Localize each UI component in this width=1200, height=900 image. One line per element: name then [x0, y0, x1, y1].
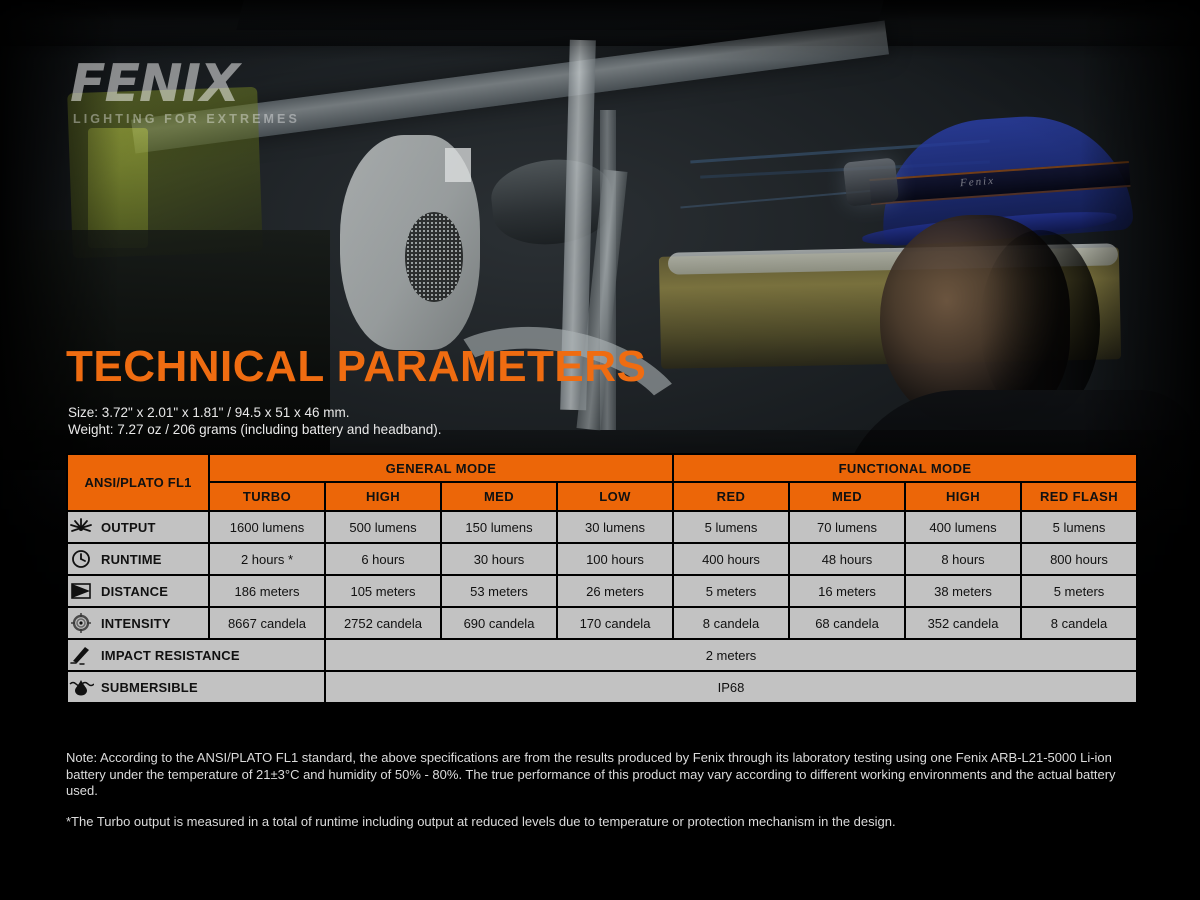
cell-intensity-red: 8 candela: [674, 608, 788, 638]
cell-runtime-fn-med: 48 hours: [790, 544, 904, 574]
cell-distance-fn-med: 16 meters: [790, 576, 904, 606]
cell-runtime-high: 6 hours: [326, 544, 440, 574]
cell-intensity-fn-high: 352 candela: [906, 608, 1020, 638]
water-drop-icon: [68, 676, 94, 698]
cell-output-med: 150 lumens: [442, 512, 556, 542]
sunburst-icon: [68, 516, 94, 538]
cell-impact-resistance-value: 2 meters: [326, 640, 1136, 670]
cell-distance-low: 26 meters: [558, 576, 672, 606]
impact-hammer-icon: [68, 644, 94, 666]
header-mode-low: LOW: [558, 483, 672, 510]
cell-runtime-low: 100 hours: [558, 544, 672, 574]
row-label-runtime: RUNTIME: [68, 544, 208, 574]
cell-submersible-value: IP68: [326, 672, 1136, 702]
header-ansi-plato: ANSI/PLATO FL1: [68, 455, 208, 510]
row-label-output: OUTPUT: [68, 512, 208, 542]
clock-icon: [68, 548, 94, 570]
header-mode-high: HIGH: [326, 483, 440, 510]
cell-intensity-turbo: 8667 candela: [210, 608, 324, 638]
cell-distance-med: 53 meters: [442, 576, 556, 606]
header-mode-red: RED: [674, 483, 788, 510]
table-row: SUBMERSIBLE IP68: [68, 672, 1136, 702]
cell-distance-high: 105 meters: [326, 576, 440, 606]
row-label-text: DISTANCE: [101, 584, 168, 599]
cell-output-low: 30 lumens: [558, 512, 672, 542]
footnote-turbo: *The Turbo output is measured in a total…: [66, 814, 1126, 831]
cell-distance-red-flash: 5 meters: [1022, 576, 1136, 606]
weight-line: Weight: 7.27 oz / 206 grams (including b…: [68, 421, 442, 438]
cell-runtime-med: 30 hours: [442, 544, 556, 574]
table-group-header-row: ANSI/PLATO FL1 GENERAL MODE FUNCTIONAL M…: [68, 455, 1136, 481]
top-fade-overlay: [0, 0, 1200, 60]
cell-runtime-fn-high: 8 hours: [906, 544, 1020, 574]
cell-intensity-high: 2752 candela: [326, 608, 440, 638]
table-row: RUNTIME 2 hours * 6 hours 30 hours 100 h…: [68, 544, 1136, 574]
row-label-text: RUNTIME: [101, 552, 162, 567]
size-weight-block: Size: 3.72" x 2.01" x 1.81" / 94.5 x 51 …: [68, 404, 442, 438]
cell-intensity-red-flash: 8 candela: [1022, 608, 1136, 638]
header-functional-mode: FUNCTIONAL MODE: [674, 455, 1136, 481]
table-row: DISTANCE 186 meters 105 meters 53 meters…: [68, 576, 1136, 606]
cell-output-high: 500 lumens: [326, 512, 440, 542]
row-label-text: INTENSITY: [101, 616, 171, 631]
row-label-intensity: INTENSITY: [68, 608, 208, 638]
header-mode-red-flash: RED FLASH: [1022, 483, 1136, 510]
cell-distance-fn-high: 38 meters: [906, 576, 1020, 606]
row-label-distance: DISTANCE: [68, 576, 208, 606]
target-intensity-icon: [68, 612, 94, 634]
beam-distance-icon: [68, 580, 94, 602]
header-mode-fn-high: HIGH: [906, 483, 1020, 510]
header-mode-turbo: TURBO: [210, 483, 324, 510]
row-label-text: IMPACT RESISTANCE: [101, 648, 240, 663]
row-label-text: SUBMERSIBLE: [101, 680, 198, 695]
cell-output-fn-high: 400 lumens: [906, 512, 1020, 542]
size-line: Size: 3.72" x 2.01" x 1.81" / 94.5 x 51 …: [68, 404, 442, 421]
header-mode-med: MED: [442, 483, 556, 510]
row-label-text: OUTPUT: [101, 520, 156, 535]
cell-output-fn-med: 70 lumens: [790, 512, 904, 542]
cell-output-turbo: 1600 lumens: [210, 512, 324, 542]
header-mode-fn-med: MED: [790, 483, 904, 510]
cell-intensity-low: 170 candela: [558, 608, 672, 638]
page-title: TECHNICAL PARAMETERS: [66, 344, 646, 390]
table-mode-header-row: TURBO HIGH MED LOW RED MED HIGH RED FLAS…: [68, 483, 1136, 510]
cell-output-red: 5 lumens: [674, 512, 788, 542]
cell-output-red-flash: 5 lumens: [1022, 512, 1136, 542]
header-general-mode: GENERAL MODE: [210, 455, 672, 481]
cell-runtime-red-flash: 800 hours: [1022, 544, 1136, 574]
cell-runtime-turbo: 2 hours *: [210, 544, 324, 574]
table-row: OUTPUT 1600 lumens 500 lumens 150 lumens…: [68, 512, 1136, 542]
technical-parameters-table: ANSI/PLATO FL1 GENERAL MODE FUNCTIONAL M…: [66, 453, 1118, 704]
cell-runtime-red: 400 hours: [674, 544, 788, 574]
row-label-submersible: SUBMERSIBLE: [68, 672, 324, 702]
footnote-standard: Note: According to the ANSI/PLATO FL1 st…: [66, 750, 1126, 800]
table-row: INTENSITY 8667 candela 2752 candela 690 …: [68, 608, 1136, 638]
table-row: IMPACT RESISTANCE 2 meters: [68, 640, 1136, 670]
row-label-impact-resistance: IMPACT RESISTANCE: [68, 640, 324, 670]
footnotes: Note: According to the ANSI/PLATO FL1 st…: [66, 750, 1126, 830]
cell-intensity-med: 690 candela: [442, 608, 556, 638]
cell-intensity-fn-med: 68 candela: [790, 608, 904, 638]
cell-distance-red: 5 meters: [674, 576, 788, 606]
cell-distance-turbo: 186 meters: [210, 576, 324, 606]
